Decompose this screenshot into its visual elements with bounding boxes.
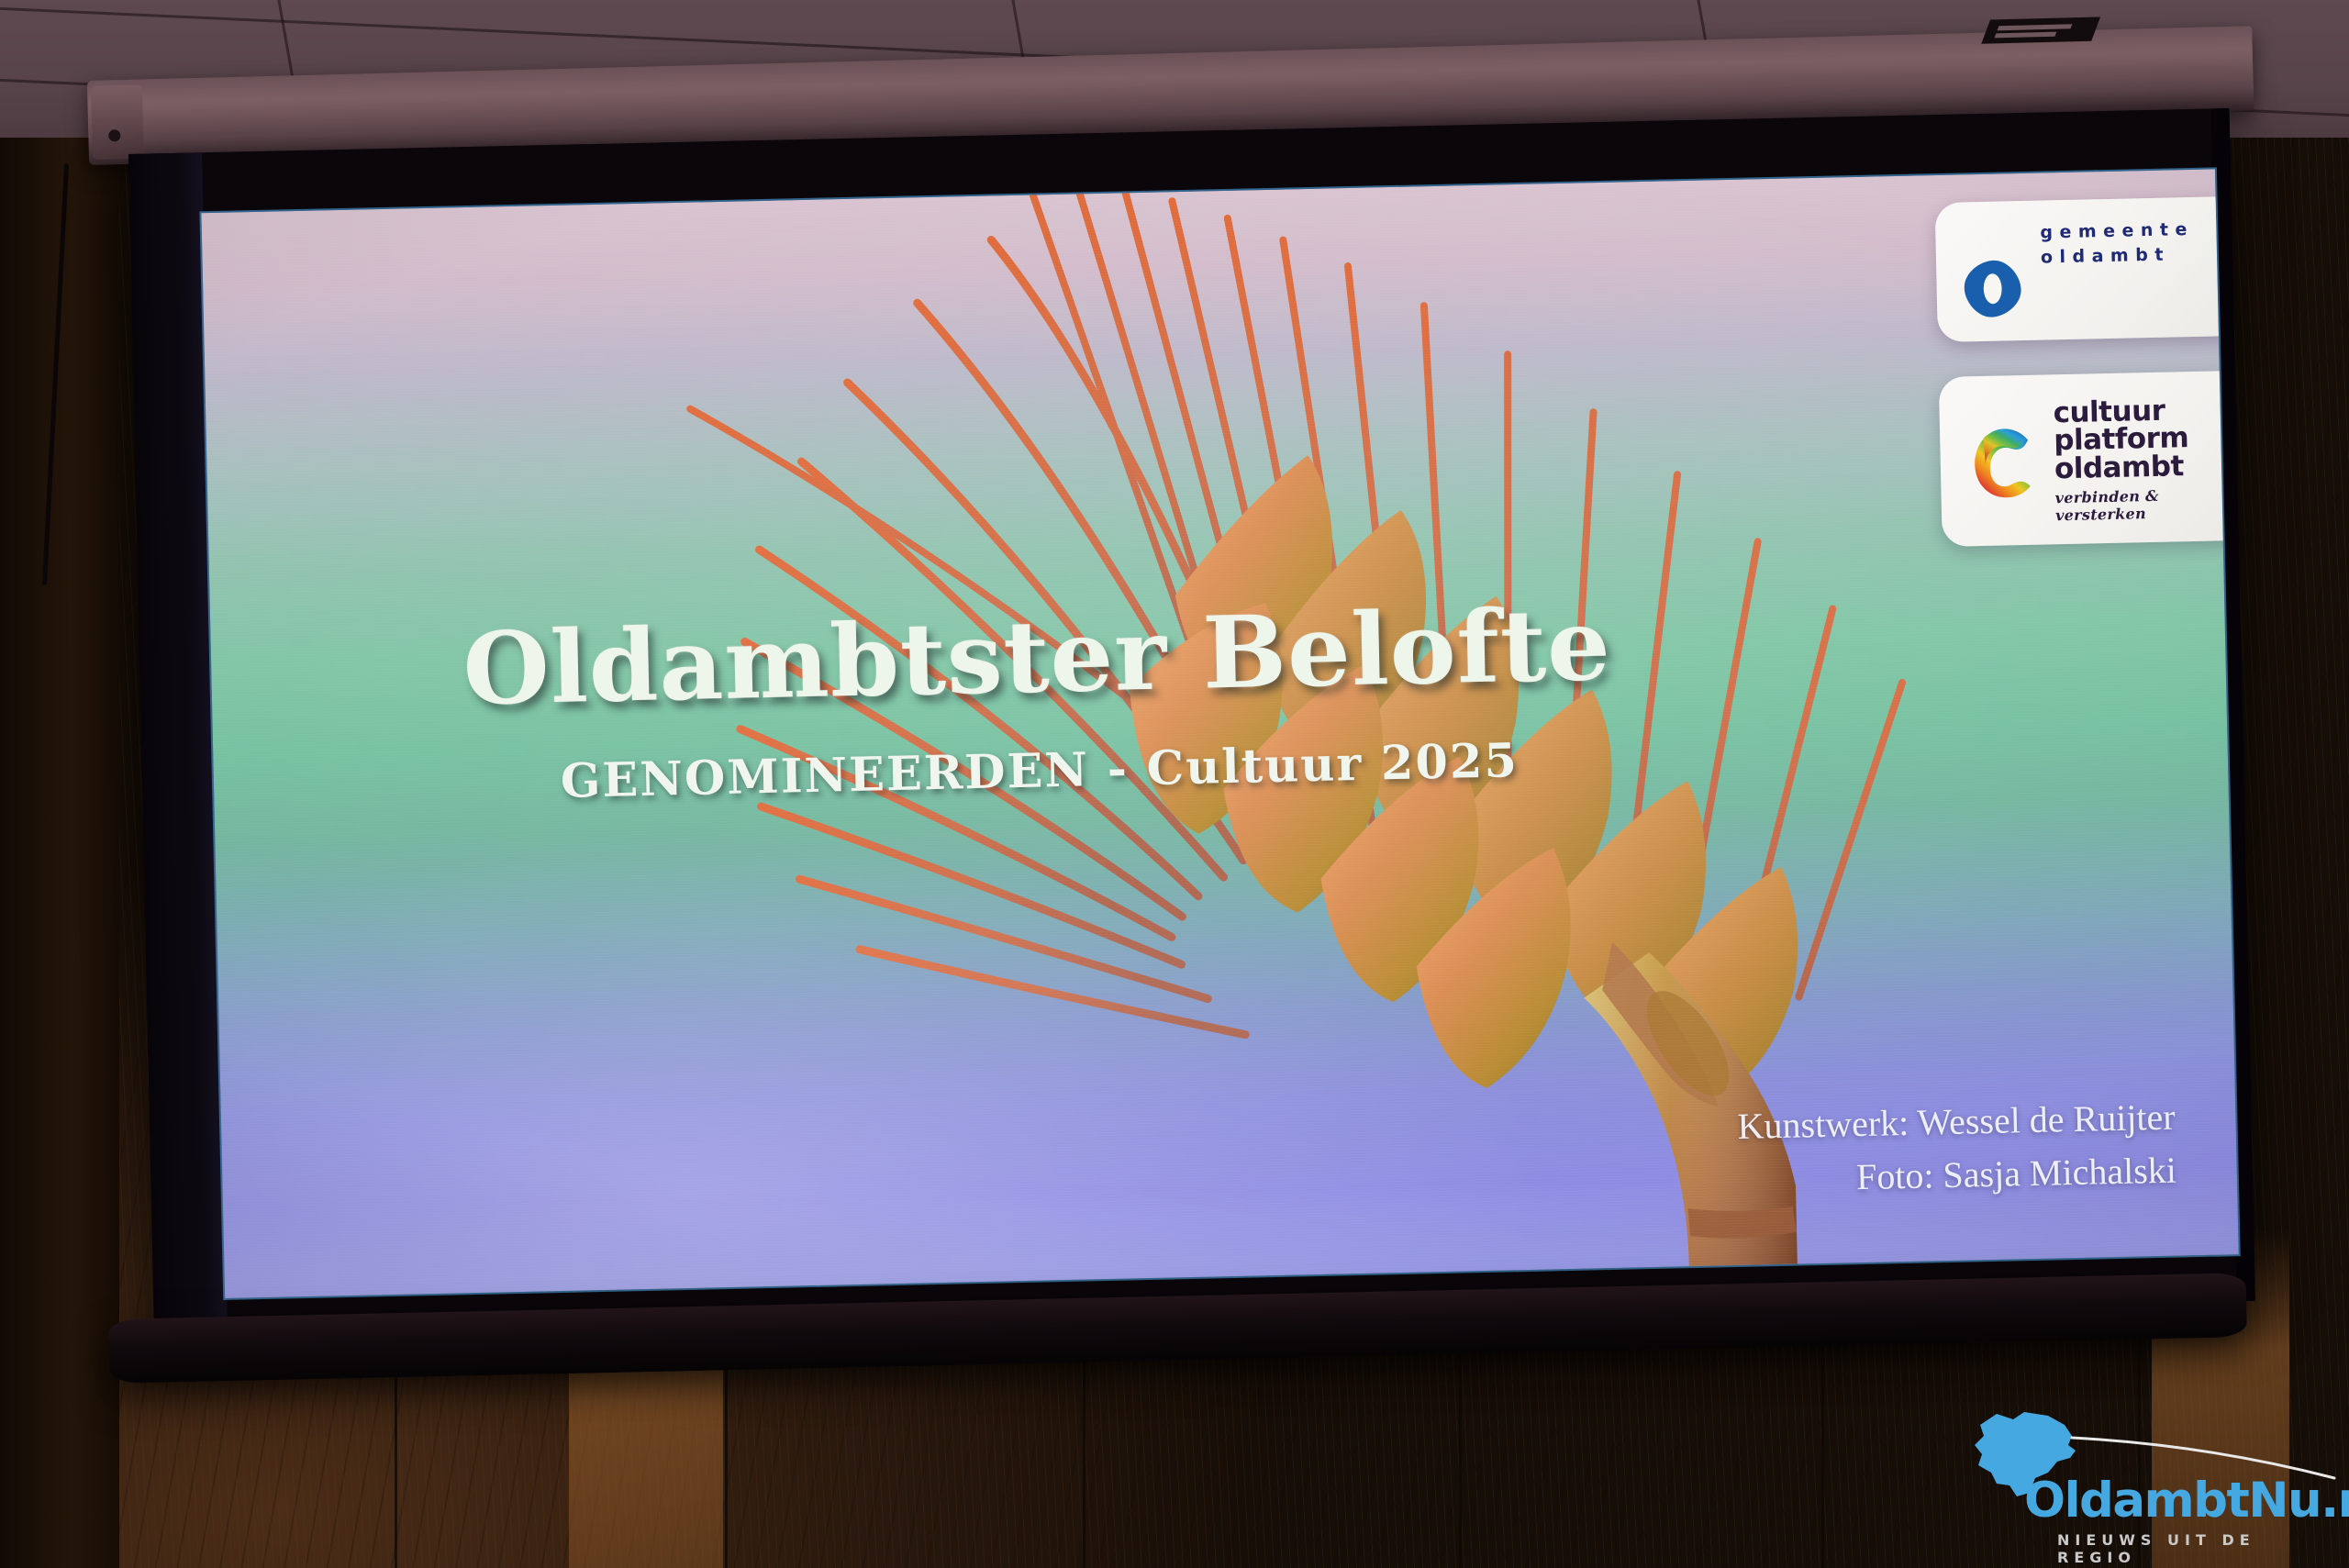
slide-background: Oldambtster Belofte GENOMINEERDEN - Cult… [201,169,2238,1298]
gemeente-oldambt-logo-card: gemeente oldambt [1935,196,2232,342]
gemeente-line-1: gemeente [2040,217,2194,245]
roller-end-cap [91,84,144,159]
wall-left-shadow [0,138,119,1568]
rainbow-c-icon [1964,420,2044,506]
room-photo: Oldambtster Belofte GENOMINEERDEN - Cult… [0,0,2349,1568]
watermark-site-name: OldambtNu.nl [2024,1476,2349,1525]
cultuur-line-3: oldambt [2054,451,2222,483]
cultuurplatform-wordmark: cultuur platform oldambt verbinden & ver… [2053,395,2222,524]
projected-slide[interactable]: Oldambtster Belofte GENOMINEERDEN - Cult… [201,169,2238,1298]
artwork-credits: Kunstwerk: Wessel de Ruijter Foto: Sasja… [1737,1091,2176,1207]
watermark-tagline: NIEUWS UIT DE REGIO [2057,1531,2334,1566]
gemeente-o-mark-icon [1962,258,2023,319]
oldambtnu-watermark: OldambtNu.nl NIEUWS UIT DE REGIO [1967,1401,2334,1559]
credit-photo: Foto: Sasja Michalski [1738,1144,2176,1207]
cultuur-tagline: verbinden & versterken [2054,485,2222,524]
cultuurplatform-oldambt-logo-card: cultuur platform oldambt verbinden & ver… [1939,371,2236,547]
projector-screen[interactable]: Oldambtster Belofte GENOMINEERDEN - Cult… [128,108,2255,1347]
slide-title-block: Oldambtster Belofte GENOMINEERDEN - Cult… [301,592,1775,815]
slide-mist [201,836,1535,1298]
screen-mount-bracket [1981,17,2100,43]
slide-subtitle: GENOMINEERDEN - Cultuur 2025 [304,728,1775,815]
sponsor-logo-cards: gemeente oldambt [1935,196,2236,547]
page-title: Oldambtster Belofte [301,592,1773,723]
gemeente-wordmark: gemeente oldambt [2040,217,2195,271]
credit-artwork: Kunstwerk: Wessel de Ruijter [1737,1091,2176,1153]
gemeente-line-2: oldambt [2041,242,2195,271]
